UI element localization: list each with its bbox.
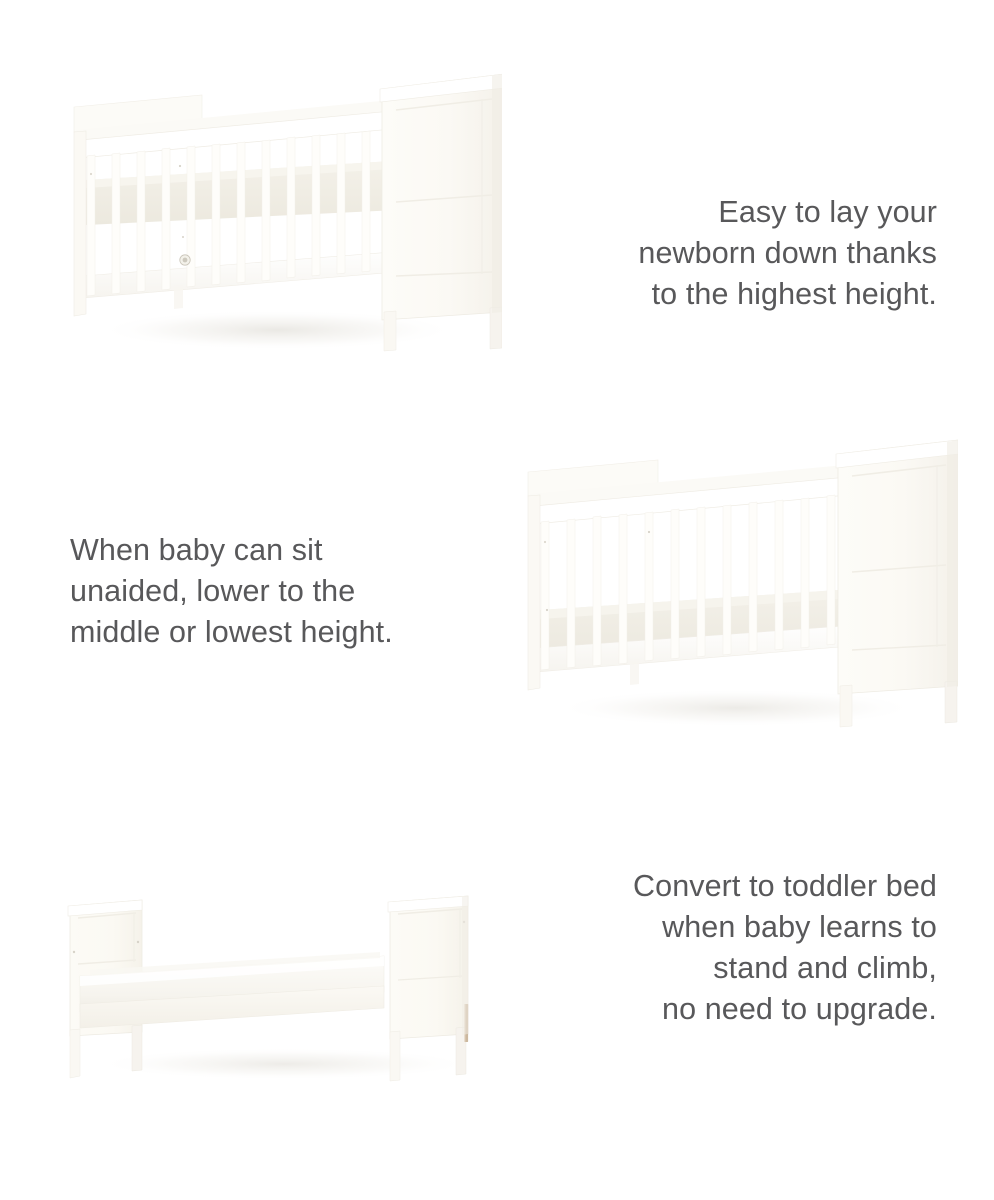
- feature-caption-lower-height: When baby can sit unaided, lower to the …: [70, 530, 450, 653]
- product-image-cot-highest: [52, 62, 502, 362]
- product-image-toddler-bed: [44, 884, 514, 1094]
- feature-panel: Easy to lay your newborn down thanks to …: [0, 0, 994, 1200]
- feature-caption-highest-height: Easy to lay your newborn down thanks to …: [575, 192, 937, 315]
- feature-caption-toddler-bed: Convert to toddler bed when baby learns …: [570, 866, 937, 1030]
- product-image-cot-lowest: [506, 432, 958, 734]
